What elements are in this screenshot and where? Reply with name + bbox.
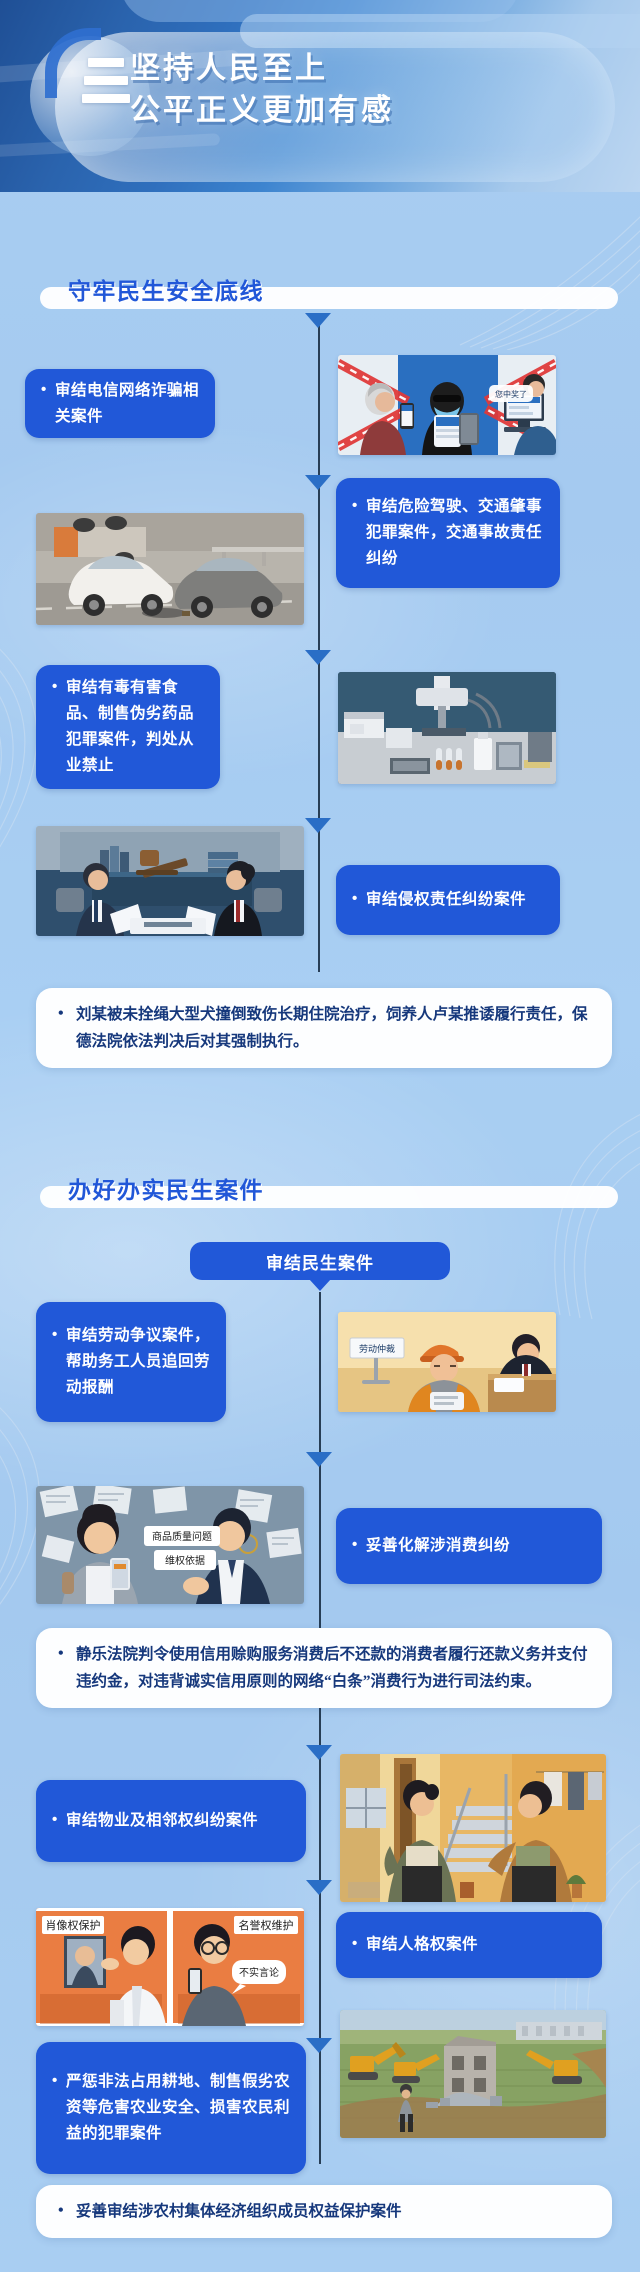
infographic-page: 坚持人民至上 公平正义更加有感 (0, 0, 640, 2272)
connector-arrow-3 (305, 650, 331, 665)
item-card-property-neighbor-label: 审结物业及相邻权纠纷案件 (52, 1808, 292, 1834)
item-card-farmland-crimes[interactable]: 严惩非法占用耕地、制售假劣农资等危害农业安全、损害农民利益的犯罪案件 (36, 2042, 306, 2174)
personality-rights-illustration: 肖像权保护 不实言论 名誉权维护 (36, 1908, 304, 2026)
note-card-rural-collective-rights-text: 妥善审结涉农村集体经济组织成员权益保护案件 (58, 2198, 592, 2225)
section-heading-2: 办好办实民生案件 (22, 1175, 618, 1209)
consumer-dispute-illustration: 商品质量问题 维权依据 (36, 1486, 304, 1604)
section-heading-1: 守牢民生安全底线 (22, 276, 618, 310)
item-card-farmland-crimes-label: 严惩非法占用耕地、制售假劣农资等危害农业安全、损害农民利益的犯罪案件 (52, 2069, 292, 2147)
page-title-line2: 公平正义更加有感 (130, 90, 610, 132)
connector-arrow-1 (305, 313, 331, 328)
numeral-three-bars-icon (82, 58, 132, 103)
item-card-labor-dispute-label: 审结劳动争议案件，帮助务工人员追回劳动报酬 (52, 1323, 212, 1401)
item-card-food-drug[interactable]: 审结有毒有害食品、制售伪劣药品犯罪案件，判处从业禁止 (36, 665, 220, 789)
note-card-credit-purchase-case: 静乐法院判令使用信用赊购服务消费后不还款的消费者履行还款义务并支付违约金，对违背… (36, 1628, 612, 1708)
svg-text:维权依据: 维权依据 (165, 1554, 205, 1567)
svg-text:劳动仲裁: 劳动仲裁 (359, 1343, 395, 1355)
section-heading-1-label: 守牢民生安全底线 (68, 276, 264, 306)
note-card-dog-injury-case-text: 刘某被未拴绳大型犬撞倒致伤长期住院治疗，饲养人卢某推诿履行责任，保德法院依法判决… (58, 1001, 592, 1055)
note-card-rural-collective-rights: 妥善审结涉农村集体经济组织成员权益保护案件 (36, 2185, 612, 2238)
item-card-telecom-fraud-label: 审结电信网络诈骗相关案件 (41, 378, 201, 430)
car-crash-photo (36, 513, 304, 625)
farmland-destruction-photo (340, 2010, 606, 2138)
item-card-tort-liability-label: 审结侵权责任纠纷案件 (352, 887, 546, 913)
telecom-fraud-illustration: 您中奖了 (338, 355, 556, 455)
decor-swirl-mid-right (500, 1100, 640, 1320)
svg-text:商品质量问题: 商品质量问题 (152, 1530, 212, 1543)
note-card-credit-purchase-case-text: 静乐法院判令使用信用赊购服务消费后不还款的消费者履行还款义务并支付违约金，对违背… (58, 1641, 592, 1695)
item-card-food-drug-label: 审结有毒有害食品、制售伪劣药品犯罪案件，判处从业禁止 (52, 675, 206, 779)
item-card-dangerous-driving[interactable]: 审结危险驾驶、交通肇事犯罪案件，交通事故责任纠纷 (336, 478, 560, 588)
connector-arrow-6 (306, 1745, 332, 1760)
item-card-dangerous-driving-label: 审结危险驾驶、交通肇事犯罪案件，交通事故责任纠纷 (352, 494, 546, 572)
page-title: 坚持人民至上 公平正义更加有感 (130, 48, 610, 132)
item-card-personality-rights-label: 审结人格权案件 (352, 1932, 588, 1958)
svg-text:肖像权保护: 肖像权保护 (46, 1918, 101, 1932)
connector-arrow-8 (306, 2038, 332, 2053)
item-card-tort-liability[interactable]: 审结侵权责任纠纷案件 (336, 865, 560, 935)
food-drug-lab-photo (338, 672, 556, 784)
item-card-property-neighbor[interactable]: 审结物业及相邻权纠纷案件 (36, 1780, 306, 1862)
connector-arrow-2 (305, 475, 331, 490)
header-banner: 坚持人民至上 公平正义更加有感 (0, 0, 640, 192)
neighbor-quarrel-illustration (340, 1754, 606, 1902)
connector-arrow-7 (306, 1880, 332, 1895)
section-heading-2-label: 办好办实民生案件 (68, 1175, 264, 1205)
page-title-line1: 坚持人民至上 (130, 52, 328, 85)
svg-text:名誉权维护: 名誉权维护 (239, 1918, 294, 1932)
item-card-telecom-fraud[interactable]: 审结电信网络诈骗相关案件 (25, 369, 215, 438)
lead-pill-label: 审结民生案件 (266, 1249, 374, 1274)
connector-arrow-5 (306, 1452, 332, 1467)
lead-pill-livelihood-cases[interactable]: 审结民生案件 (190, 1242, 450, 1280)
item-card-labor-dispute[interactable]: 审结劳动争议案件，帮助务工人员追回劳动报酬 (36, 1302, 226, 1422)
svg-text:您中奖了: 您中奖了 (495, 389, 527, 399)
item-card-consumer-dispute-label: 妥善化解涉消费纠纷 (352, 1533, 588, 1559)
labor-arbitration-illustration: 劳动仲裁 (338, 1312, 556, 1412)
courtroom-gavel-illustration (36, 826, 304, 936)
svg-text:不实言论: 不实言论 (239, 1966, 279, 1979)
item-card-consumer-dispute[interactable]: 妥善化解涉消费纠纷 (336, 1508, 602, 1584)
lead-pill-tail (309, 1279, 331, 1291)
item-card-personality-rights[interactable]: 审结人格权案件 (336, 1912, 602, 1978)
note-card-dog-injury-case: 刘某被未拴绳大型犬撞倒致伤长期住院治疗，饲养人卢某推诿履行责任，保德法院依法判决… (36, 988, 612, 1068)
connector-spine-2 (319, 1292, 321, 2164)
connector-arrow-4 (305, 818, 331, 833)
connector-spine-1 (318, 316, 320, 972)
